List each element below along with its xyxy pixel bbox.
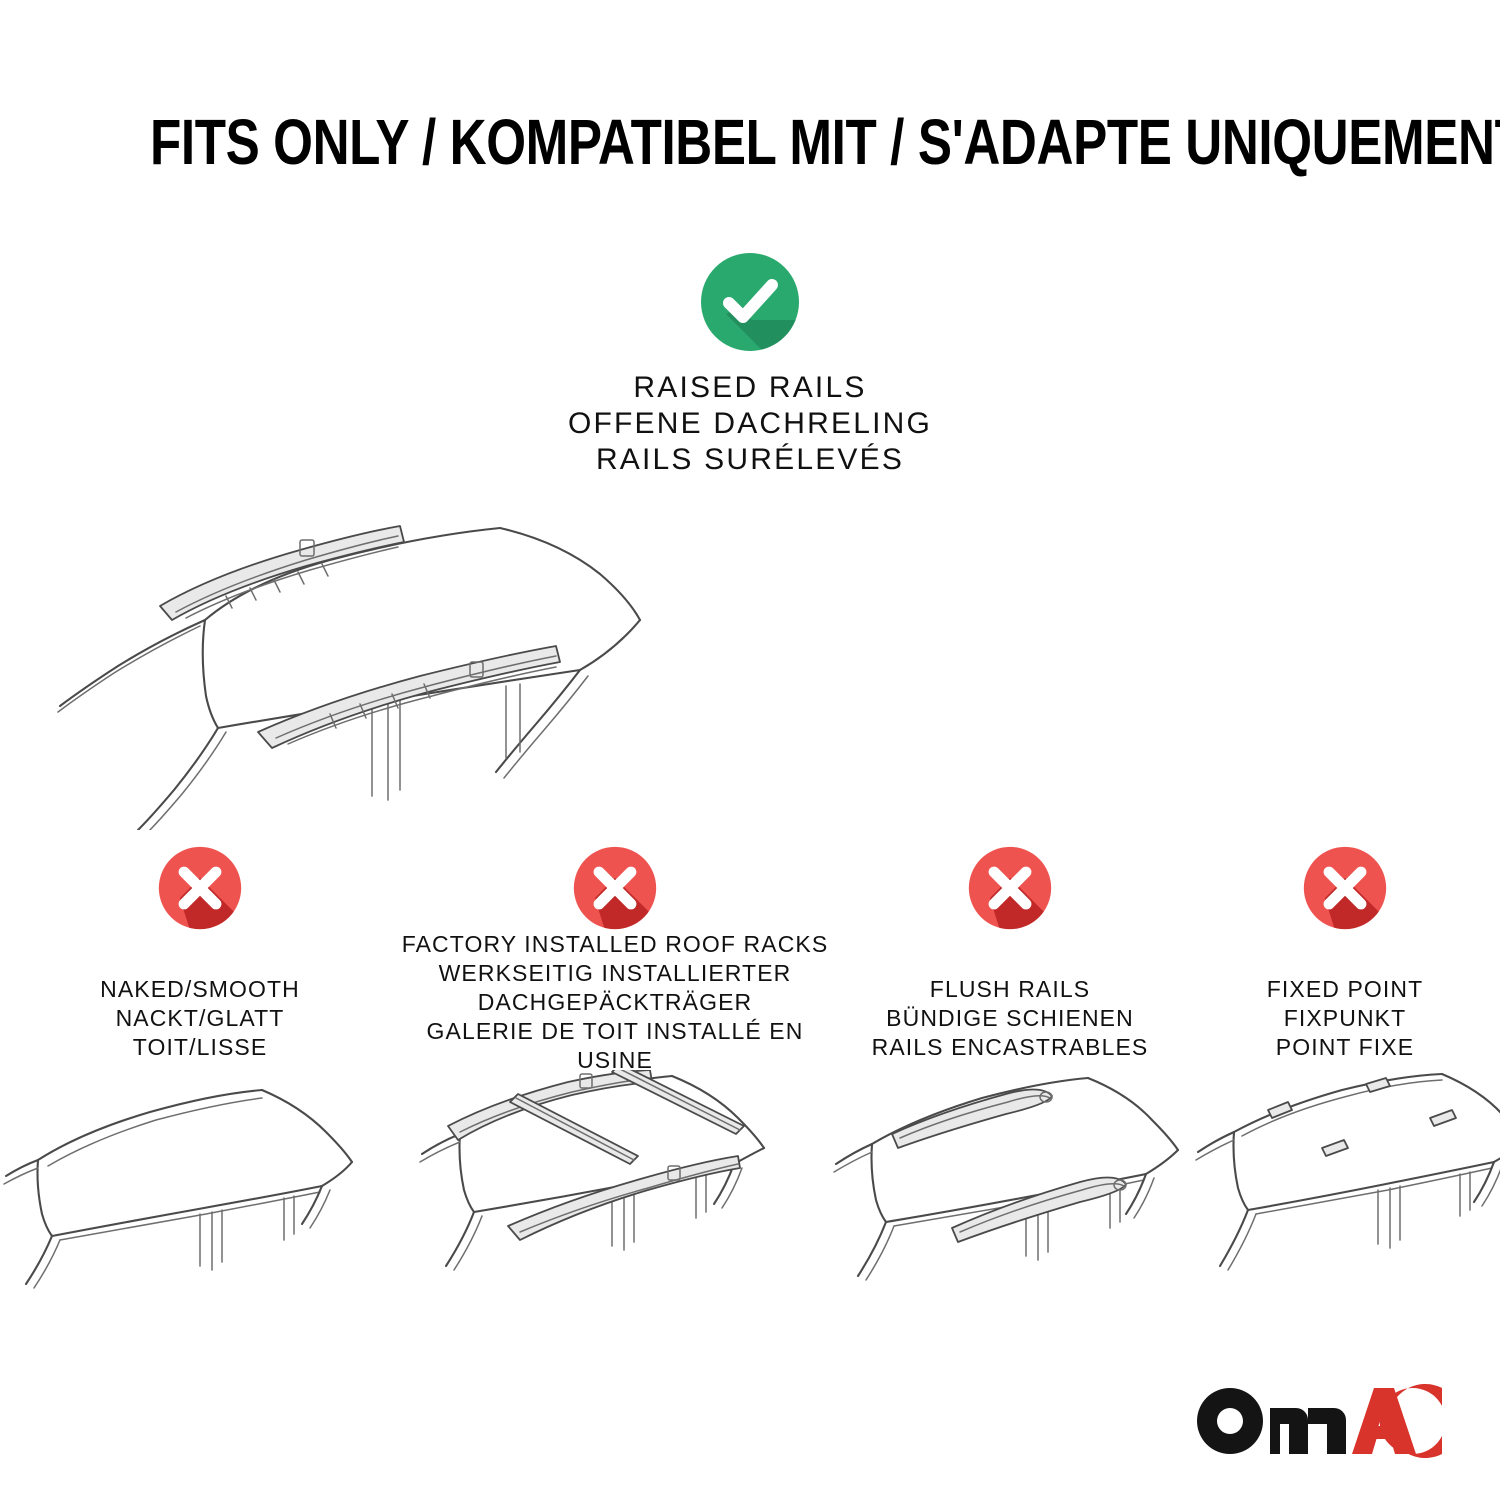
logo-letter-m bbox=[1270, 1408, 1346, 1454]
flush-rails-roof-illustration bbox=[830, 1070, 1190, 1300]
cross-circle-icon bbox=[158, 846, 242, 930]
fixed-point-roof-illustration bbox=[1190, 1070, 1500, 1300]
incompatible-item-naked-smooth: NAKED/SMOOTH NACKT/GLATT TOIT/LISSE bbox=[0, 846, 400, 1326]
incompatible-label: FIXED POINT FIXPUNKT POINT FIXE bbox=[1267, 975, 1424, 1066]
incompatible-section: NAKED/SMOOTH NACKT/GLATT TOIT/LISSE bbox=[0, 846, 1500, 1326]
logo-letter-o bbox=[1197, 1388, 1263, 1454]
cross-circle-icon bbox=[1303, 846, 1387, 930]
incompatible-item-factory-racks: FACTORY INSTALLED ROOF RACKS WERKSEITIG … bbox=[400, 846, 830, 1326]
incompatible-item-flush-rails: FLUSH RAILS BÜNDIGE SCHIENEN RAILS ENCAS… bbox=[830, 846, 1190, 1326]
cross-circle-icon bbox=[573, 846, 657, 930]
naked-roof-illustration bbox=[0, 1070, 400, 1300]
cross-circle-icon bbox=[968, 846, 1052, 930]
omac-logo: OMAC bbox=[1194, 1384, 1444, 1458]
raised-rails-roof-illustration bbox=[0, 500, 1500, 830]
compatible-section: RAISED RAILS OFFENE DACHRELING RAILS SUR… bbox=[0, 252, 1500, 478]
page-title: FITS ONLY / KOMPATIBEL MIT / S'ADAPTE UN… bbox=[150, 108, 1350, 176]
check-circle-icon bbox=[700, 252, 800, 352]
incompatible-label: FACTORY INSTALLED ROOF RACKS WERKSEITIG … bbox=[400, 930, 830, 1079]
incompatible-label: NAKED/SMOOTH NACKT/GLATT TOIT/LISSE bbox=[100, 975, 300, 1066]
compatible-label: RAISED RAILS OFFENE DACHRELING RAILS SUR… bbox=[0, 370, 1500, 478]
incompatible-label: FLUSH RAILS BÜNDIGE SCHIENEN RAILS ENCAS… bbox=[872, 975, 1149, 1066]
incompatible-item-fixed-point: FIXED POINT FIXPUNKT POINT FIXE bbox=[1190, 846, 1500, 1326]
factory-roof-rack-illustration bbox=[400, 1070, 830, 1300]
